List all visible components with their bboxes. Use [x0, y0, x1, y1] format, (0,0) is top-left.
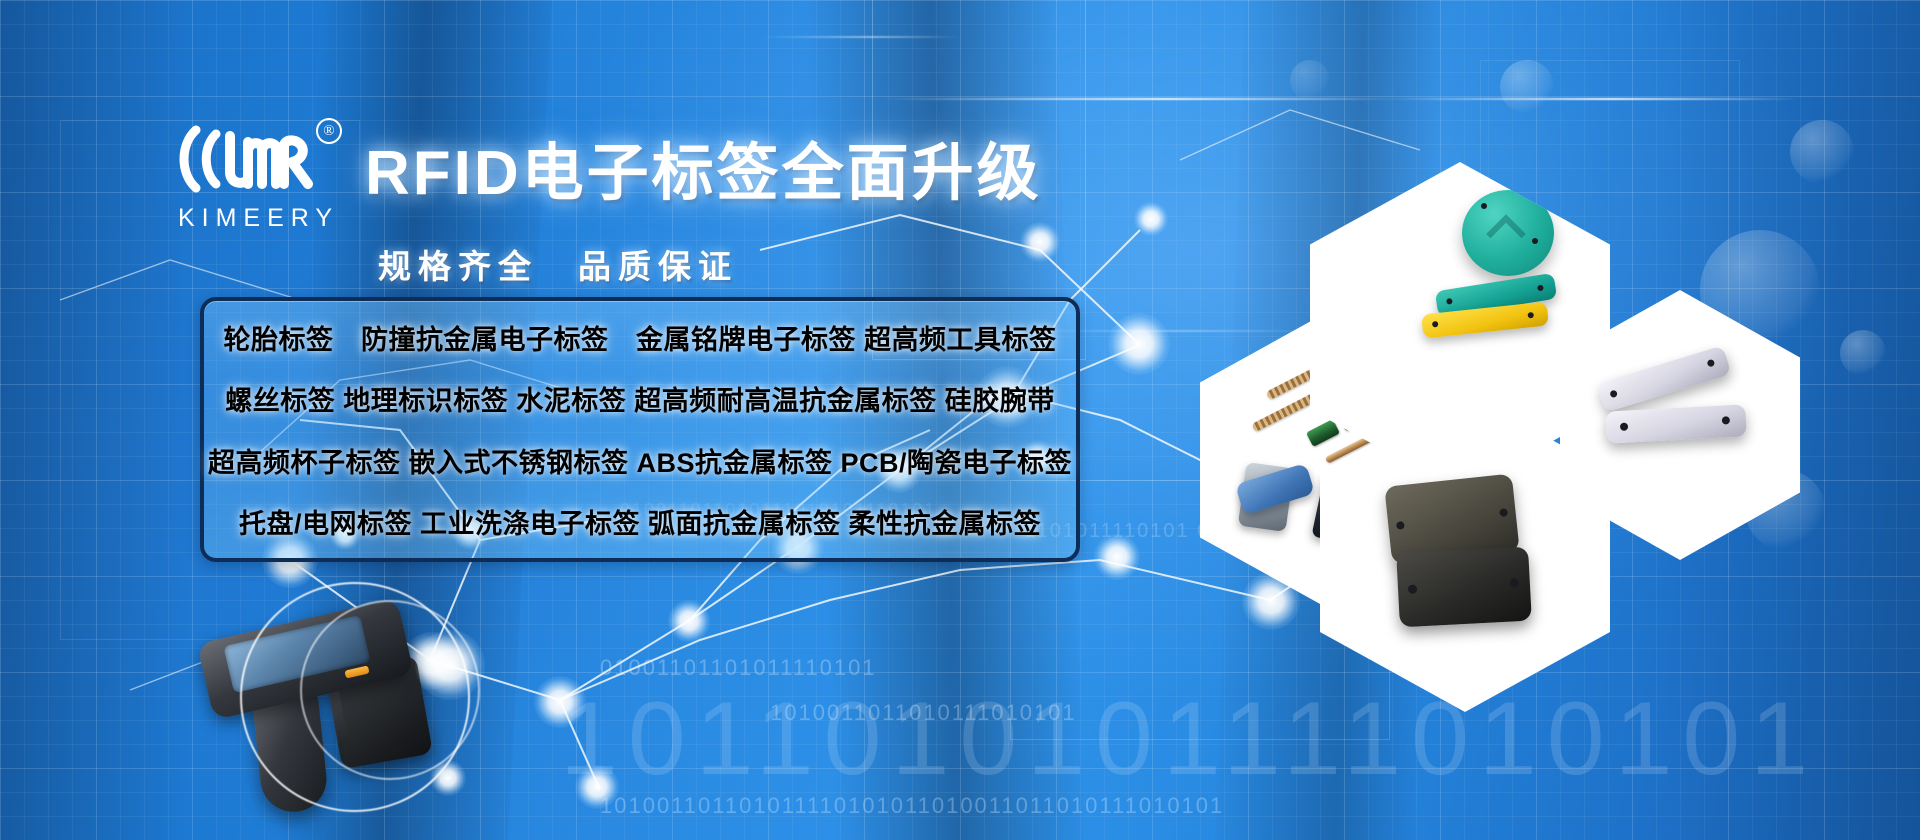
bg-binary-large: 1011010101111010101 [560, 680, 1818, 799]
product-list-row: 托盘/电网标签 工业洗涤电子标签 弧面抗金属标签 柔性抗金属标签 [204, 491, 1076, 552]
mount-hole [1396, 521, 1405, 530]
bg-bokeh [1290, 60, 1330, 100]
black-anti-metal-tag [1396, 547, 1532, 628]
bg-bokeh [1500, 60, 1554, 114]
mount-hole [1408, 584, 1417, 593]
bg-binary-line: 1010011011010111101010110100110110101110… [600, 793, 1224, 819]
kmr-signal-mark: ® [170, 120, 340, 198]
bg-light-streak [880, 98, 1400, 100]
bg-node [1094, 534, 1140, 580]
bg-node [534, 676, 586, 728]
bg-light-streak [760, 36, 960, 38]
handheld-rfid-reader [185, 600, 475, 840]
registered-trademark-icon: ® [316, 118, 342, 144]
mount-hole [1609, 390, 1618, 399]
white-bar-tag-upper [1596, 345, 1731, 412]
mount-hole [1707, 359, 1716, 368]
mount-hole [1432, 321, 1439, 328]
mount-hole [1446, 298, 1453, 305]
bg-binary-line: 01001101101011110101 [600, 655, 877, 681]
mount-hole [1527, 312, 1534, 319]
bg-node [1108, 313, 1170, 375]
product-list-panel: 轮胎标签 防撞抗金属电子标签 金属铭牌电子标签 超高频工具标签 螺丝标签 地理标… [200, 297, 1080, 562]
logo-brand-text: KIMEERY [170, 204, 340, 233]
mount-hole [1722, 416, 1730, 424]
product-list-row: 超高频杯子标签 嵌入式不锈钢标签 ABS抗金属标签 PCB/陶瓷电子标签 [204, 430, 1076, 491]
bg-node [1020, 222, 1060, 262]
rfid-promo-banner: 01001101101011110101 1010011011010111010… [0, 0, 1920, 840]
bg-light-streak [1380, 98, 1800, 100]
bg-panel-left [0, 0, 190, 840]
white-bar-tag-lower [1605, 404, 1746, 443]
bg-node [668, 600, 710, 642]
page-subtitle: 规格齐全 品质保证 [378, 240, 738, 288]
bg-bokeh [1790, 120, 1854, 184]
mount-hole [1620, 423, 1628, 431]
product-list-row: 轮胎标签 防撞抗金属电子标签 金属铭牌电子标签 超高频工具标签 [204, 307, 1076, 368]
kimeery-logo[interactable]: ® KIMEERY [170, 120, 340, 233]
page-title: RFID电子标签全面升级 [365, 122, 1042, 212]
kmr-mark-svg [170, 120, 320, 198]
rod-tag-chip [1306, 419, 1340, 447]
bg-node [575, 765, 619, 809]
product-list-row: 螺丝标签 地理标识标签 水泥标签 超高频耐高温抗金属标签 硅胶腕带 [204, 368, 1076, 429]
mount-hole [1537, 285, 1544, 292]
chevron-emboss-icon [1486, 214, 1526, 254]
bg-binary-line: 1010011011010111010101 [770, 700, 1077, 726]
mount-hole [1499, 508, 1508, 517]
mount-hole [1510, 578, 1519, 587]
bg-bokeh [1840, 330, 1886, 376]
teal-disc-tag [1462, 190, 1554, 276]
mount-hole [1532, 238, 1538, 244]
bg-node [1134, 202, 1168, 236]
mount-hole [1481, 203, 1487, 209]
